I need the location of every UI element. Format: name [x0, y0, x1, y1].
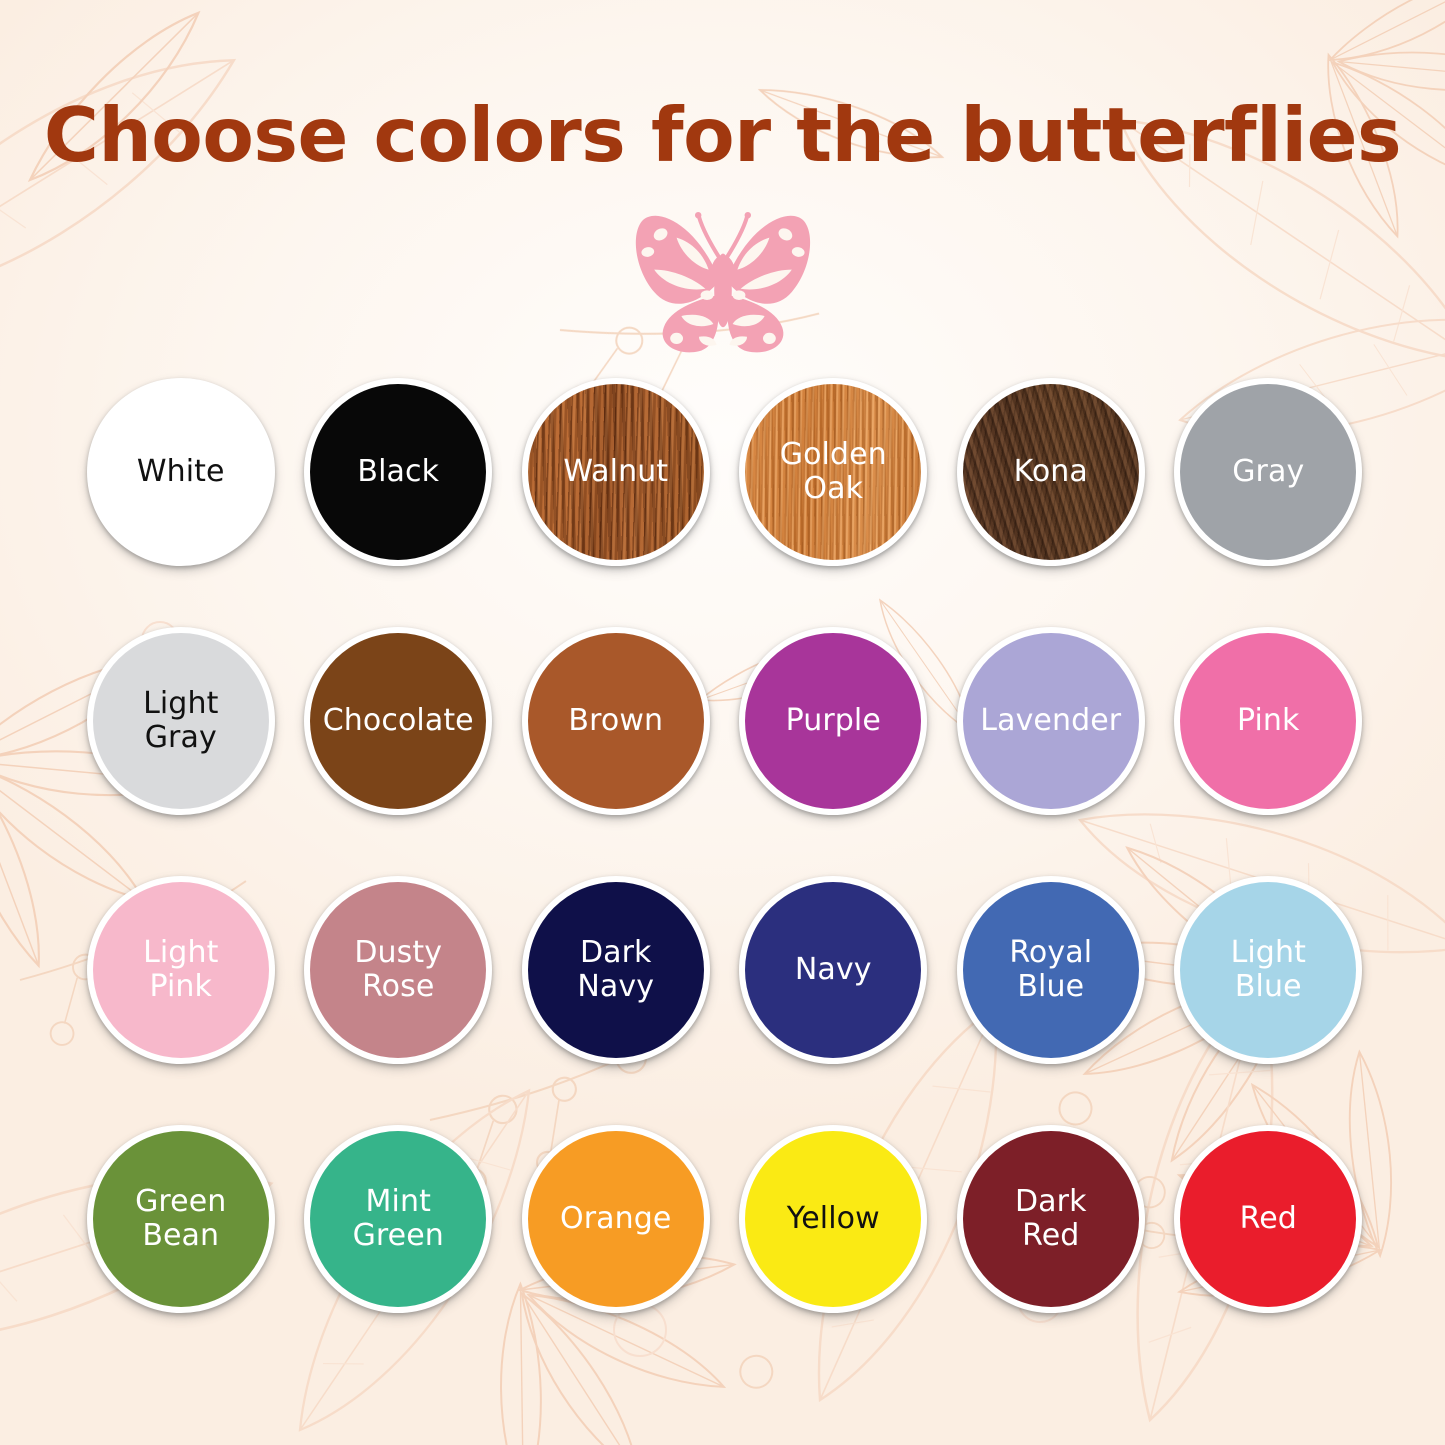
- color-swatch-kona[interactable]: Kona: [957, 378, 1145, 566]
- color-swatch-green-bean[interactable]: GreenBean: [87, 1125, 275, 1313]
- swatch-color-fill: DarkRed: [963, 1131, 1139, 1307]
- butterfly-icon: [618, 196, 828, 364]
- swatch-color-fill: RoyalBlue: [963, 882, 1139, 1058]
- swatch-label: RoyalBlue: [1003, 936, 1098, 1004]
- swatch-label: Gray: [1226, 455, 1310, 489]
- color-swatch-gray[interactable]: Gray: [1174, 378, 1362, 566]
- swatch-color-fill: GreenBean: [93, 1131, 269, 1307]
- swatch-color-fill: Walnut: [528, 384, 704, 560]
- color-swatch-pink[interactable]: Pink: [1174, 627, 1362, 815]
- swatch-color-fill: LightGray: [93, 633, 269, 809]
- swatch-label-line1: Dark: [580, 935, 652, 970]
- page-title: Choose colors for the butterflies: [0, 96, 1445, 175]
- color-swatch-orange[interactable]: Orange: [522, 1125, 710, 1313]
- color-swatch-lavender[interactable]: Lavender: [957, 627, 1145, 815]
- color-swatch-dark-red[interactable]: DarkRed: [957, 1125, 1145, 1313]
- swatch-color-fill: Red: [1180, 1131, 1356, 1307]
- color-swatch-light-pink[interactable]: LightPink: [87, 876, 275, 1064]
- swatch-label: Orange: [554, 1202, 677, 1236]
- color-swatch-royal-blue[interactable]: RoyalBlue: [957, 876, 1145, 1064]
- color-swatch-chocolate[interactable]: Chocolate: [304, 627, 492, 815]
- swatch-label-line2: Blue: [1235, 969, 1302, 1004]
- swatch-color-fill: Navy: [745, 882, 921, 1058]
- color-swatch-purple[interactable]: Purple: [739, 627, 927, 815]
- swatch-color-fill: DustyRose: [310, 882, 486, 1058]
- swatch-label-line1: Light: [1231, 935, 1306, 970]
- swatch-color-fill: Lavender: [963, 633, 1139, 809]
- swatch-color-fill: White: [93, 384, 269, 560]
- color-swatch-navy[interactable]: Navy: [739, 876, 927, 1064]
- swatch-label: Yellow: [781, 1202, 886, 1236]
- color-swatch-white[interactable]: White: [87, 378, 275, 566]
- swatch-label: Navy: [789, 953, 878, 987]
- swatch-label-line2: Oak: [803, 471, 863, 506]
- color-swatch-mint-green[interactable]: MintGreen: [304, 1125, 492, 1313]
- color-swatch-dark-navy[interactable]: DarkNavy: [522, 876, 710, 1064]
- swatch-label: Black: [351, 455, 445, 489]
- swatch-label-line2: Gray: [145, 720, 217, 755]
- swatch-label-line2: Bean: [142, 1218, 219, 1253]
- swatch-label: LightGray: [137, 687, 224, 755]
- header: Choose colors for the butterflies: [0, 96, 1445, 175]
- swatch-label-line2: Blue: [1017, 969, 1084, 1004]
- swatch-label-line1: Golden: [780, 437, 887, 472]
- swatch-label: Brown: [562, 704, 669, 738]
- swatch-label: LightBlue: [1225, 936, 1312, 1004]
- swatch-label-line2: Green: [353, 1218, 444, 1253]
- color-chooser-page: Choose colors for the butterflies: [0, 0, 1445, 1445]
- swatch-label: White: [131, 455, 231, 489]
- swatch-color-fill: GoldenOak: [745, 384, 921, 560]
- swatch-label-line2: Pink: [149, 969, 212, 1004]
- swatch-color-fill: Yellow: [745, 1131, 921, 1307]
- swatch-label: Chocolate: [317, 704, 480, 738]
- swatch-color-fill: DarkNavy: [528, 882, 704, 1058]
- color-swatch-brown[interactable]: Brown: [522, 627, 710, 815]
- swatch-color-fill: Black: [310, 384, 486, 560]
- swatch-label: LightPink: [137, 936, 224, 1004]
- swatch-label-line1: Mint: [366, 1184, 431, 1219]
- color-swatch-light-blue[interactable]: LightBlue: [1174, 876, 1362, 1064]
- swatch-color-fill: Chocolate: [310, 633, 486, 809]
- swatch-color-fill: Orange: [528, 1131, 704, 1307]
- swatch-label: Purple: [780, 704, 887, 738]
- swatch-label: Red: [1234, 1202, 1303, 1236]
- color-swatch-yellow[interactable]: Yellow: [739, 1125, 927, 1313]
- swatch-label-line1: Light: [143, 686, 218, 721]
- swatch-label-line1: Green: [135, 1184, 226, 1219]
- swatch-label-line2: Rose: [362, 969, 434, 1004]
- swatch-label-line1: Light: [143, 935, 218, 970]
- swatch-label-line1: Dark: [1015, 1184, 1087, 1219]
- color-swatch-red[interactable]: Red: [1174, 1125, 1362, 1313]
- swatch-label: Kona: [1008, 455, 1094, 489]
- color-swatch-grid: WhiteBlackWalnutGoldenOakKonaGrayLightGr…: [72, 378, 1377, 1374]
- swatch-label-line2: Red: [1022, 1218, 1079, 1253]
- swatch-color-fill: Purple: [745, 633, 921, 809]
- swatch-label: GoldenOak: [774, 438, 893, 506]
- swatch-label: Walnut: [557, 455, 674, 489]
- color-swatch-golden-oak[interactable]: GoldenOak: [739, 378, 927, 566]
- swatch-color-fill: Brown: [528, 633, 704, 809]
- swatch-color-fill: LightPink: [93, 882, 269, 1058]
- swatch-label: GreenBean: [129, 1185, 232, 1253]
- swatch-label: Lavender: [974, 704, 1127, 738]
- swatch-label-line1: Royal: [1009, 935, 1092, 970]
- swatch-color-fill: LightBlue: [1180, 882, 1356, 1058]
- swatch-label: MintGreen: [347, 1185, 450, 1253]
- swatch-label: Pink: [1231, 704, 1306, 738]
- swatch-color-fill: Kona: [963, 384, 1139, 560]
- swatch-label-line1: Dusty: [354, 935, 442, 970]
- swatch-label: DarkRed: [1009, 1185, 1093, 1253]
- swatch-color-fill: Gray: [1180, 384, 1356, 560]
- color-swatch-light-gray[interactable]: LightGray: [87, 627, 275, 815]
- swatch-color-fill: MintGreen: [310, 1131, 486, 1307]
- color-swatch-dusty-rose[interactable]: DustyRose: [304, 876, 492, 1064]
- swatch-label-line2: Navy: [577, 969, 654, 1004]
- swatch-label: DustyRose: [348, 936, 448, 1004]
- swatch-color-fill: Pink: [1180, 633, 1356, 809]
- color-swatch-black[interactable]: Black: [304, 378, 492, 566]
- color-swatch-walnut[interactable]: Walnut: [522, 378, 710, 566]
- swatch-label: DarkNavy: [571, 936, 660, 1004]
